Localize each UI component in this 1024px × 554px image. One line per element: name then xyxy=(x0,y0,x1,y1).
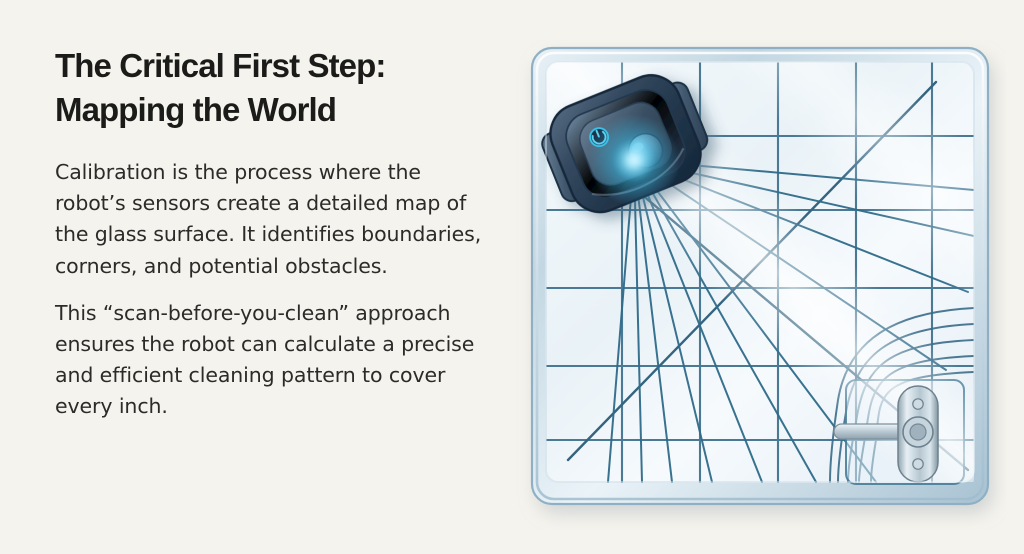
body-paragraph-1: Calibration is the process where the rob… xyxy=(55,157,485,282)
illustration-robot-mapping-glass xyxy=(516,40,1006,530)
escutcheon-screw-bottom xyxy=(913,459,923,469)
slide-root: The Critical First Step: Mapping the Wor… xyxy=(0,0,1024,554)
lever-hub-inner xyxy=(910,424,926,440)
body-paragraph-2: This “scan-before-you-clean” approach en… xyxy=(55,298,485,423)
sensor-glow xyxy=(588,114,680,206)
page-title: The Critical First Step: Mapping the Wor… xyxy=(55,44,485,131)
glass-window-panel xyxy=(532,48,988,504)
text-column: The Critical First Step: Mapping the Wor… xyxy=(55,44,485,422)
escutcheon-screw-top xyxy=(913,399,923,409)
